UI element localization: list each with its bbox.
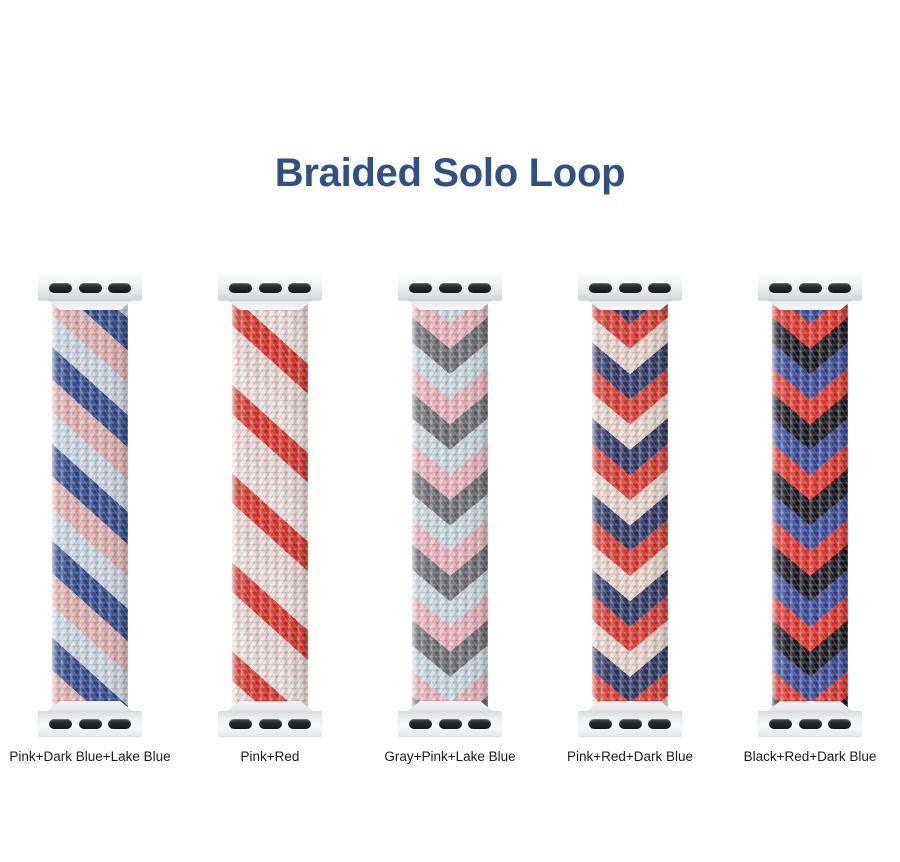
lug-slot-group xyxy=(49,719,131,729)
band-stitch-texture xyxy=(412,295,488,723)
lug-slot-icon xyxy=(409,283,432,293)
lug-taper xyxy=(586,299,674,310)
band-weave xyxy=(232,295,308,723)
band-stitch-texture xyxy=(592,295,668,723)
lug-slot-group xyxy=(769,719,851,729)
lug-slot-group xyxy=(589,719,671,729)
product-variant[interactable]: Pink+Dark Blue+Lake Blue xyxy=(0,268,180,778)
product-variant-label: Pink+Dark Blue+Lake Blue xyxy=(0,748,180,766)
lug-slot-icon xyxy=(589,283,612,293)
lug-slot-icon xyxy=(439,719,462,729)
lug-slot-icon xyxy=(648,719,671,729)
lug-slot-icon xyxy=(409,719,432,729)
watch-lug-connector-top xyxy=(38,275,142,300)
lug-slot-group xyxy=(589,283,671,293)
lug-slot-icon xyxy=(439,283,462,293)
lug-taper xyxy=(46,299,134,310)
braided-band-swatch[interactable] xyxy=(772,295,848,723)
lug-slot-icon xyxy=(769,719,792,729)
watch-lug-connector-bottom xyxy=(578,711,682,736)
lug-slot-group xyxy=(229,719,311,729)
watch-lug-connector-bottom xyxy=(758,711,862,736)
product-variant-label: Pink+Red+Dark Blue xyxy=(540,748,720,766)
page-title: Braided Solo Loop xyxy=(0,148,900,198)
lug-slot-icon xyxy=(589,719,612,729)
band-stitch-texture xyxy=(52,295,128,723)
watch-lug-connector-bottom xyxy=(218,711,322,736)
product-variant[interactable]: Pink+Red xyxy=(180,268,360,778)
lug-taper xyxy=(226,299,314,310)
lug-slot-group xyxy=(49,283,131,293)
lug-slot-icon xyxy=(259,719,282,729)
product-variant-label: Black+Red+Dark Blue xyxy=(720,748,900,766)
lug-slot-icon xyxy=(799,283,822,293)
product-variant-label: Gray+Pink+Lake Blue xyxy=(360,748,540,766)
product-variant[interactable]: Gray+Pink+Lake Blue xyxy=(360,268,540,778)
lug-slot-icon xyxy=(288,719,311,729)
lug-slot-icon xyxy=(769,283,792,293)
lug-slot-icon xyxy=(108,719,131,729)
lug-slot-icon xyxy=(229,283,252,293)
band-weave xyxy=(772,295,848,723)
band-stitch-texture xyxy=(772,295,848,723)
product-variant-row: Pink+Dark Blue+Lake Blue xyxy=(0,268,900,778)
watch-lug-connector-top xyxy=(758,275,862,300)
braided-band-swatch[interactable] xyxy=(232,295,308,723)
lug-slot-icon xyxy=(79,719,102,729)
band-weave xyxy=(592,295,668,723)
lug-slot-icon xyxy=(619,283,642,293)
lug-taper xyxy=(766,299,854,310)
lug-slot-icon xyxy=(229,719,252,729)
lug-slot-icon xyxy=(468,719,491,729)
lug-slot-icon xyxy=(799,719,822,729)
product-variant[interactable]: Black+Red+Dark Blue xyxy=(720,268,900,778)
braided-band-swatch[interactable] xyxy=(52,295,128,723)
lug-slot-icon xyxy=(49,283,72,293)
lug-slot-icon xyxy=(259,283,282,293)
lug-slot-group xyxy=(409,719,491,729)
watch-lug-connector-top xyxy=(218,275,322,300)
lug-slot-icon xyxy=(49,719,72,729)
lug-slot-icon xyxy=(619,719,642,729)
lug-slot-icon xyxy=(288,283,311,293)
watch-lug-connector-top xyxy=(398,275,502,300)
lug-slot-group xyxy=(769,283,851,293)
watch-lug-connector-bottom xyxy=(398,711,502,736)
band-weave xyxy=(52,295,128,723)
lug-slot-icon xyxy=(79,283,102,293)
lug-taper xyxy=(406,299,494,310)
band-weave xyxy=(412,295,488,723)
lug-slot-group xyxy=(409,283,491,293)
lug-slot-icon xyxy=(828,719,851,729)
braided-band-swatch[interactable] xyxy=(412,295,488,723)
product-variant-label: Pink+Red xyxy=(180,748,360,766)
lug-slot-group xyxy=(229,283,311,293)
lug-slot-icon xyxy=(648,283,671,293)
watch-lug-connector-bottom xyxy=(38,711,142,736)
product-variant[interactable]: Pink+Red+Dark Blue xyxy=(540,268,720,778)
lug-slot-icon xyxy=(828,283,851,293)
braided-band-swatch[interactable] xyxy=(592,295,668,723)
band-stitch-texture xyxy=(232,295,308,723)
lug-slot-icon xyxy=(108,283,131,293)
watch-lug-connector-top xyxy=(578,275,682,300)
lug-slot-icon xyxy=(468,283,491,293)
